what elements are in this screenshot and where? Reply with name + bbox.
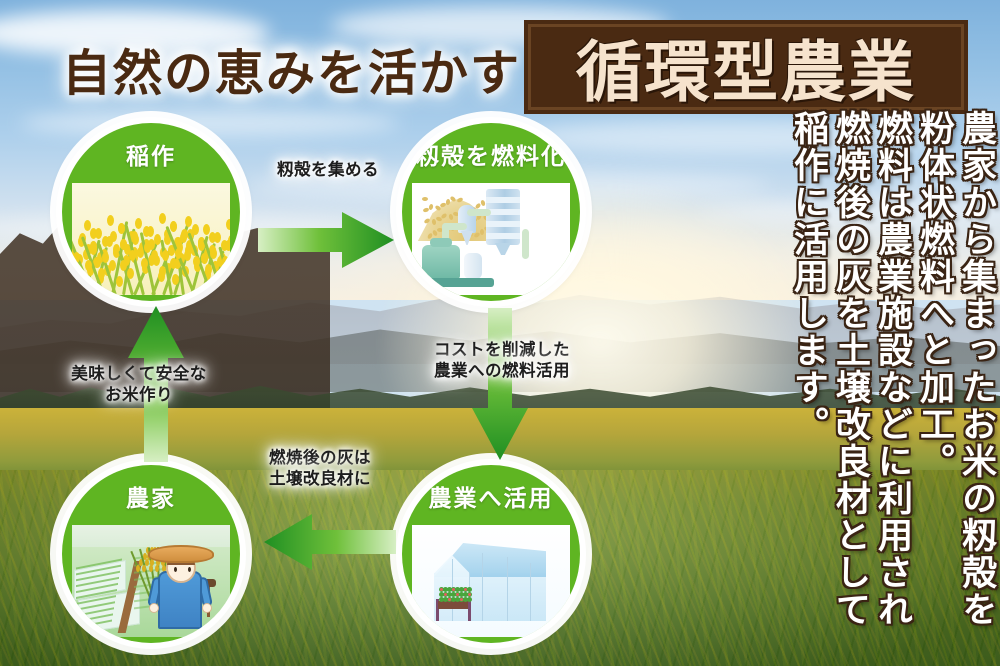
cycle-node-farmer[interactable]: 農家 — [56, 459, 246, 649]
arrow-label-cost-reduced-fuel: コストを削減した 農業への燃料活用 — [406, 340, 598, 382]
vertical-text-column-2: 粉体状燃料へと加工。 — [917, 110, 952, 480]
vertical-text-column-1: 農家から集まったお米の籾殻を — [959, 110, 994, 628]
greenhouse-icon — [412, 525, 570, 637]
cycle-node-label: 稲作 — [62, 137, 240, 171]
arrow-fuel-to-agriculture — [472, 308, 528, 460]
node-disc: 農業へ活用 — [402, 465, 580, 643]
node-disc: 農家 — [62, 465, 240, 643]
arrow-label-ash-to-soil: 燃焼後の灰は 土壌改良材に — [250, 448, 390, 490]
node-disc: 籾殻を燃料化 — [402, 123, 580, 301]
farmer-icon — [72, 525, 230, 637]
title-badge: 循環型農業 — [524, 20, 968, 114]
arrow-label-collect-husks: 籾殻を集める — [258, 160, 398, 181]
cycle-node-fuel[interactable]: 籾殻を燃料化 — [396, 117, 586, 307]
vertical-text-column-3: 燃料は農業施設などに利用され — [875, 110, 910, 628]
vertical-text-column-5: 稲作に活用します。 — [791, 110, 826, 443]
arrow-rice-to-fuel — [258, 212, 394, 268]
header: 自然の恵みを活かす 循環型農業 — [0, 14, 1000, 100]
cycle-node-rice[interactable]: 稲作 — [56, 117, 246, 307]
cloud — [20, 110, 400, 136]
rice-field-icon — [72, 183, 230, 295]
vertical-description-text: 農家から集まったお米の籾殻を 粉体状燃料へと加工。 燃料は農業施設などに利用され… — [791, 110, 994, 658]
page-title: 自然の恵みを活かす — [62, 34, 521, 105]
arrow-label-safe-rice: 美味しくて安全な お米作り — [54, 364, 224, 406]
cycle-node-label: 農家 — [62, 479, 240, 513]
fuel-plant-icon — [412, 183, 570, 295]
cycle-node-agriculture[interactable]: 農業へ活用 — [396, 459, 586, 649]
node-disc: 稲作 — [62, 123, 240, 301]
arrow-agriculture-to-farmer — [264, 514, 396, 570]
cycle-node-label: 農業へ活用 — [402, 479, 580, 513]
vertical-text-column-4: 燃焼後の灰を土壌改良材として — [833, 110, 868, 628]
cycle-node-label: 籾殻を燃料化 — [402, 137, 580, 171]
title-badge-label: 循環型農業 — [576, 19, 916, 115]
